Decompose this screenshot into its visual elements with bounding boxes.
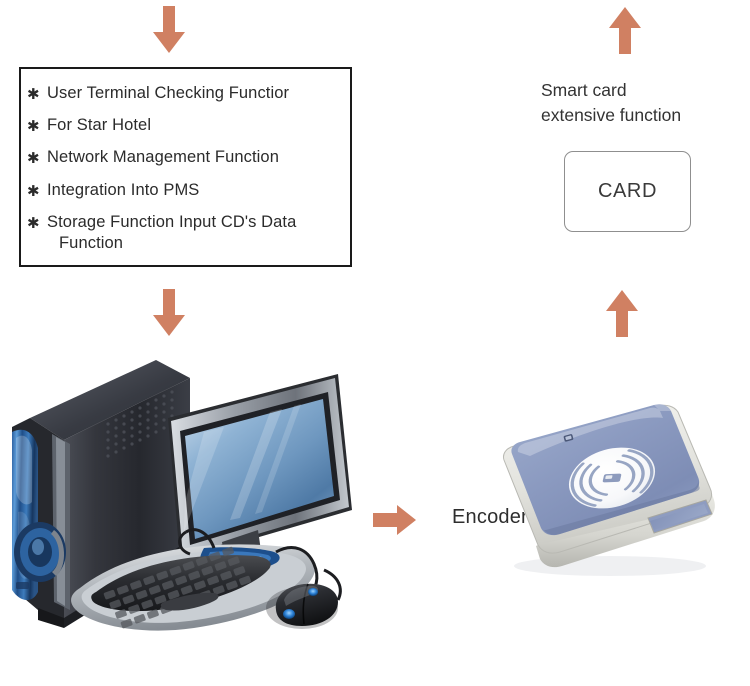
arrow-down-to-computer: [152, 289, 186, 337]
list-item-label: User Terminal Checking Functior: [47, 84, 289, 102]
list-item-label: For Star Hotel: [47, 116, 151, 134]
arrow-up-from-encoder: [605, 289, 639, 337]
arrow-right-computer-to-encoder: [373, 504, 417, 536]
list-item-label: Storage Function Input CD's Data Functio…: [47, 213, 296, 252]
card-label: CARD: [598, 180, 657, 203]
smart-card-heading: Smart card extensive function: [541, 78, 741, 128]
feature-list-box: ✱User Terminal Checking Functior ✱For St…: [19, 67, 352, 267]
list-item: ✱For Star Hotel: [43, 115, 340, 136]
encoder-device-illustration: [490, 400, 720, 585]
card-graphic: CARD: [564, 151, 691, 232]
list-item: ✱Storage Function Input CD's Data Functi…: [43, 212, 340, 254]
list-item: ✱Integration Into PMS: [43, 180, 340, 201]
list-item-label: Network Management Function: [47, 148, 279, 166]
arrow-up-from-card: [608, 6, 642, 54]
list-item-label: Integration Into PMS: [47, 181, 199, 199]
feature-list: ✱User Terminal Checking Functior ✱For St…: [21, 69, 350, 254]
arrow-down-to-feature-box: [152, 6, 186, 54]
list-item: ✱Network Management Function: [43, 147, 340, 168]
list-item: ✱User Terminal Checking Functior: [43, 83, 340, 104]
desktop-computer-illustration: [8, 352, 368, 652]
